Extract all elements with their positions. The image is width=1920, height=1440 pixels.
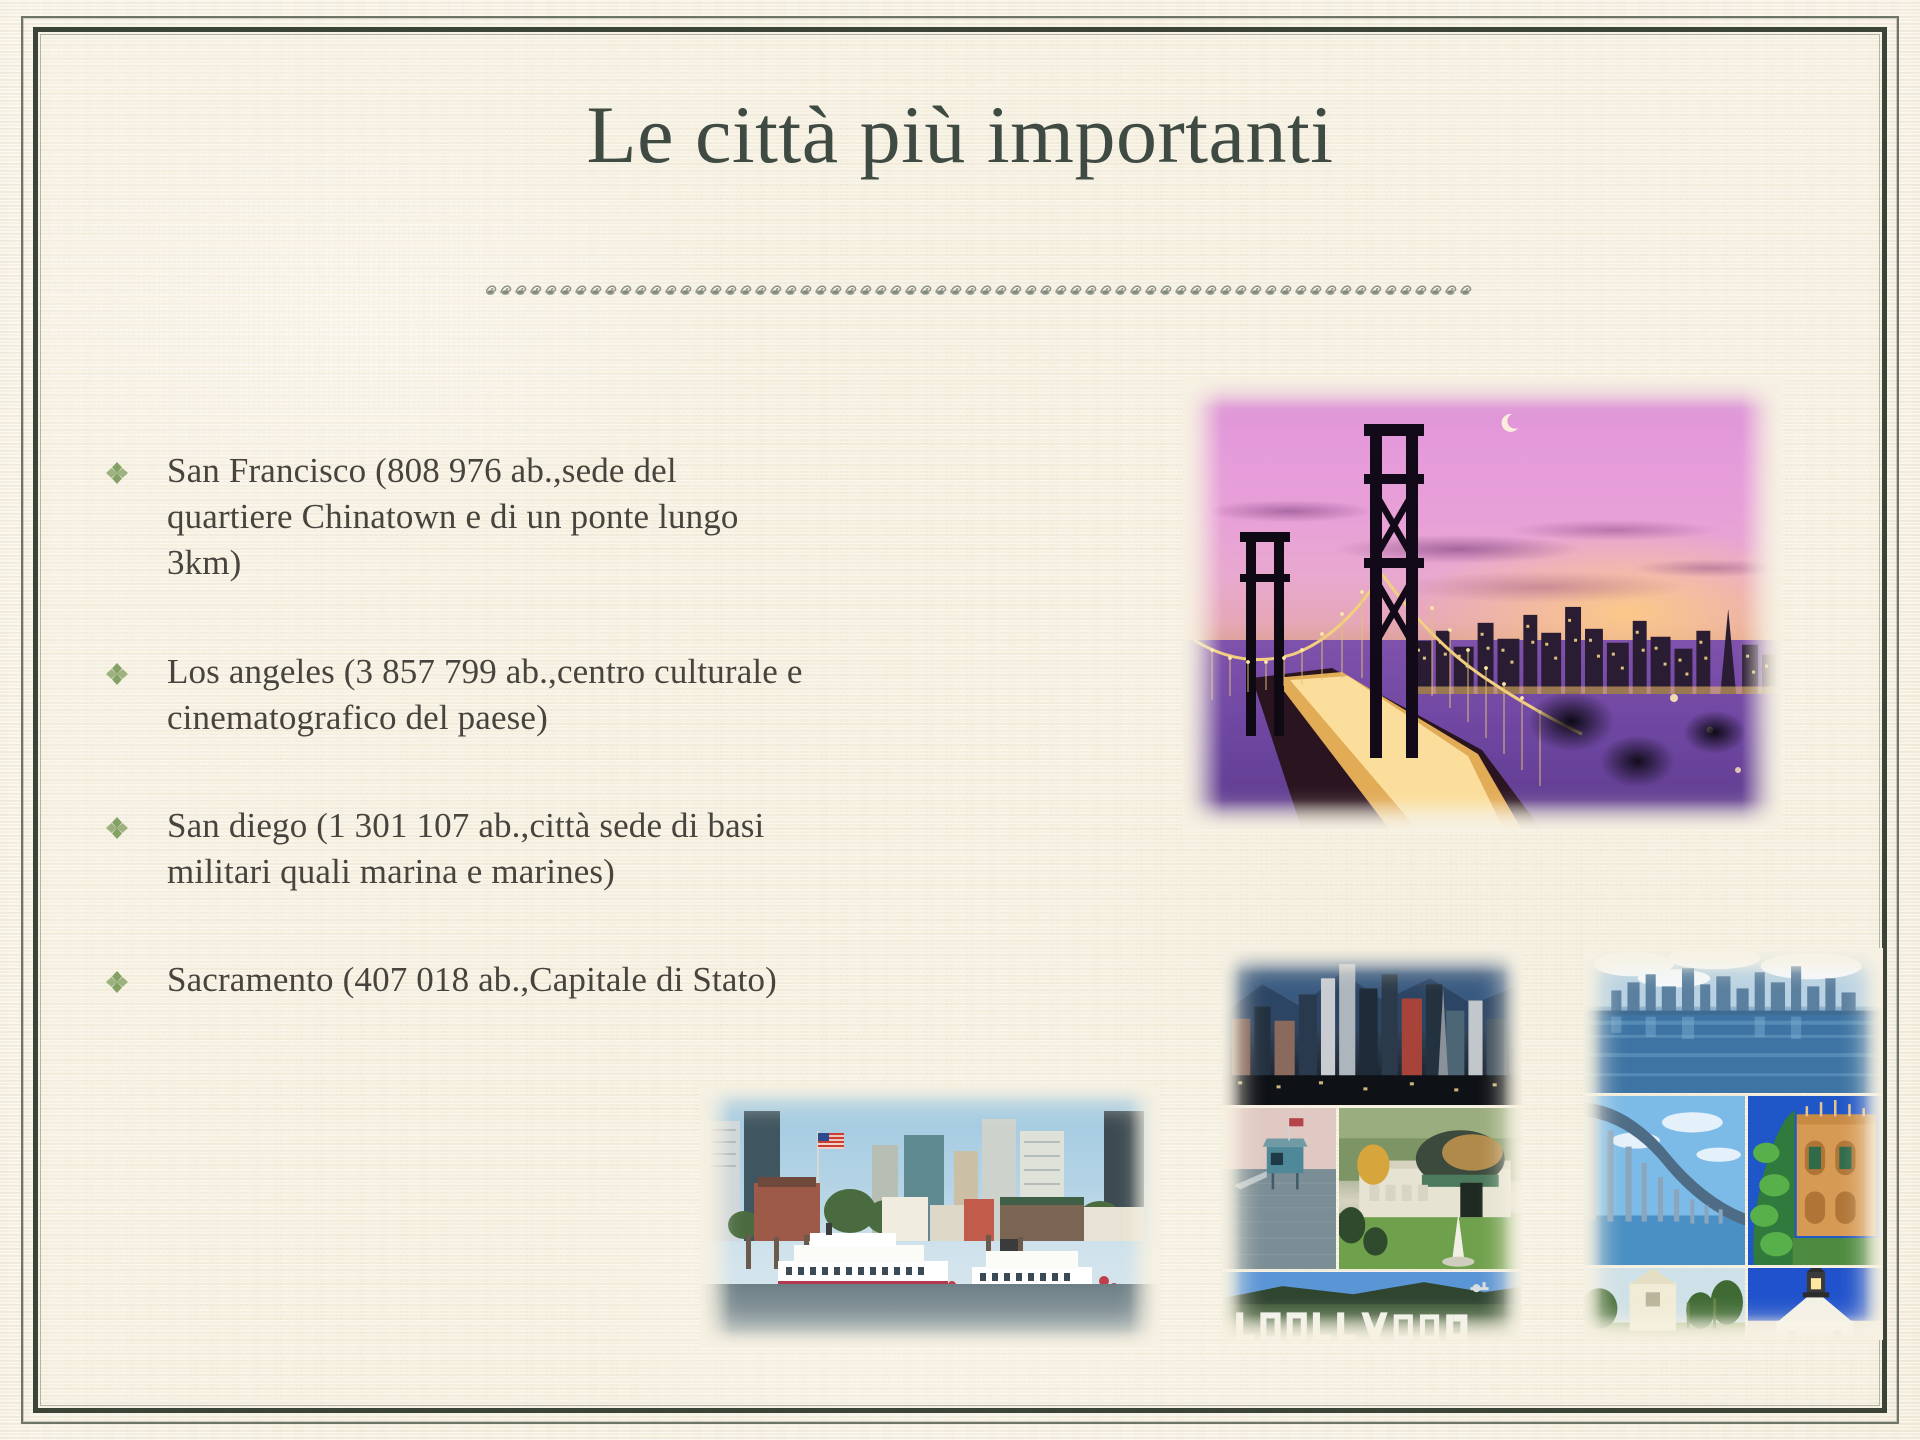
ornament-divider <box>486 283 1481 299</box>
la-lifeguard-tower <box>1222 1108 1336 1269</box>
quatrefoil-bullet-icon <box>104 969 130 995</box>
sd-old-point-loma-lighthouse <box>1748 1268 1883 1340</box>
photo-los-angeles-collage <box>1222 948 1522 1340</box>
quatrefoil-bullet-icon <box>104 460 130 486</box>
bullet-list: San Francisco (808 976 ab.,sede del quar… <box>104 448 804 1004</box>
list-item-text: San diego (1 301 107 ab.,città sede di b… <box>167 803 804 895</box>
photo-san-francisco-bay-bridge <box>1182 378 1782 830</box>
photo-san-diego-collage <box>1583 948 1883 1340</box>
ornament-divider-icon <box>486 283 1481 299</box>
sacramento-river-water <box>700 1284 1160 1347</box>
list-item[interactable]: San Francisco (808 976 ab.,sede del quar… <box>104 448 804 587</box>
la-griffith-observatory <box>1339 1108 1522 1269</box>
sd-mission-church <box>1583 1268 1745 1340</box>
list-item-text: Los angeles (3 857 799 ab.,centro cultur… <box>167 649 804 741</box>
photo-sacramento-riverfront <box>700 1085 1160 1347</box>
quatrefoil-bullet-icon <box>104 661 130 687</box>
presentation-slide: Le città più importanti <box>0 0 1920 1440</box>
list-item[interactable]: Sacramento (407 018 ab.,Capitale di Stat… <box>104 957 804 1003</box>
title-block: Le città più importanti <box>0 92 1920 179</box>
sf-foreground-trees <box>1494 649 1770 830</box>
list-item-text: Sacramento (407 018 ab.,Capitale di Stat… <box>167 957 804 1003</box>
list-item[interactable]: San diego (1 301 107 ab.,città sede di b… <box>104 803 804 895</box>
sd-coronado-bridge <box>1583 1096 1745 1265</box>
quatrefoil-bullet-icon <box>104 815 130 841</box>
sd-balboa-park-building <box>1748 1096 1883 1265</box>
la-hollywood-sign <box>1222 1272 1522 1340</box>
list-item-text: San Francisco (808 976 ab.,sede del quar… <box>167 448 804 587</box>
la-downtown-skyline <box>1222 948 1522 1105</box>
slide-title: Le città più importanti <box>0 92 1920 179</box>
sd-bay-skyline <box>1583 948 1883 1093</box>
list-item[interactable]: Los angeles (3 857 799 ab.,centro cultur… <box>104 649 804 741</box>
